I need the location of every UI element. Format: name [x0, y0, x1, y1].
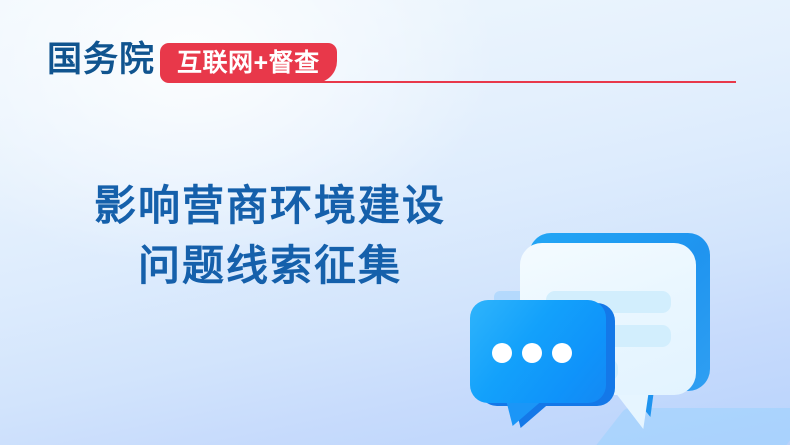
program-badge: 互联网+督查: [160, 43, 337, 83]
chat-bubbles-illustration: [470, 215, 790, 445]
state-council-logo: 国务院: [47, 40, 155, 80]
campaign-banner: 国务院 互联网+督查 影响营商环境建设 问题线索征集: [0, 0, 790, 445]
banner-header: 国务院 互联网+督查: [0, 0, 790, 100]
typing-dot-icon: [522, 343, 542, 363]
typing-dot-icon: [492, 343, 512, 363]
program-badge-label: 互联网+督查: [177, 51, 320, 76]
page-title: 影响营商环境建设 问题线索征集: [0, 176, 540, 296]
header-divider-rule: [190, 81, 736, 83]
typing-dot-icon: [552, 343, 572, 363]
title-line-1: 影响营商环境建设: [0, 176, 540, 236]
title-line-2: 问题线索征集: [0, 236, 540, 296]
typing-bubble-icon: [470, 300, 620, 425]
small-bubble-body: [470, 300, 606, 403]
